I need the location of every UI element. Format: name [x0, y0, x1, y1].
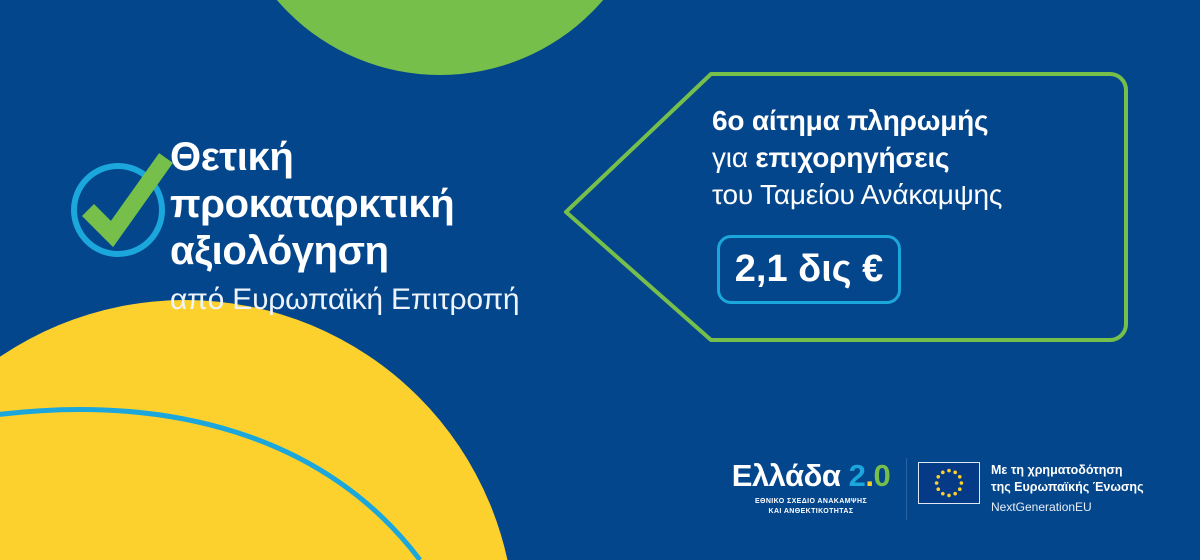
callout-line-2-bold: επιχορηγήσεις: [755, 142, 949, 173]
check-circle-icon: [62, 148, 178, 264]
green-circle-decoration: [225, 0, 655, 75]
headline-line-1: Θετική: [170, 134, 590, 181]
callout-line-1: 6ο αίτημα πληρωμής: [712, 103, 1112, 140]
callout-line-2-prefix: για: [712, 142, 755, 173]
eu-flag-stars: [919, 463, 979, 503]
headline-line-2: προκαταρκτική: [170, 181, 590, 228]
eu-flag-icon: [918, 462, 980, 504]
eu-text-line-2: της Ευρωπαϊκής Ένωσης: [991, 479, 1144, 496]
amount-badge-value: 2,1 δις €: [735, 250, 883, 288]
greece-logo-version-two: 2: [849, 458, 866, 493]
eu-text-line-3: NextGenerationEU: [991, 499, 1144, 515]
greece-2-0-logo: Ελλάδα 2.0 ΕΘΝΙΚΟ ΣΧΕΔΙΟ ΑΝΑΚΑΜΨΗΣ ΚΑΙ Α…: [726, 460, 896, 517]
greece-logo-subtitle-line-2: ΚΑΙ ΑΝΘΕΚΤΙΚΟΤΗΤΑΣ: [726, 507, 896, 517]
amount-badge: 2,1 δις €: [717, 235, 901, 304]
callout-line-3: του Ταμείου Ανάκαμψης: [712, 177, 1112, 214]
logo-divider: [906, 458, 907, 520]
cyan-arc-decoration: [0, 410, 420, 560]
greece-logo-subtitle: ΕΘΝΙΚΟ ΣΧΕΔΙΟ ΑΝΑΚΑΜΨΗΣ ΚΑΙ ΑΝΘΕΚΤΙΚΟΤΗΤ…: [726, 497, 896, 517]
greece-logo-name: Ελλάδα: [732, 458, 841, 493]
eu-funding-text: Με τη χρηματοδότηση της Ευρωπαϊκής Ένωση…: [991, 462, 1144, 515]
status-headline-block: Θετική προκαταρκτική αξιολόγηση από Ευρω…: [170, 134, 590, 318]
recovery-fund-banner: Θετική προκαταρκτική αξιολόγηση από Ευρω…: [0, 0, 1200, 560]
callout-line-2: για επιχορηγήσεις: [712, 140, 1112, 177]
greece-logo-version-zero: 0: [873, 458, 890, 493]
greece-logo-wordmark: Ελλάδα 2.0: [726, 460, 896, 491]
callout-content: 6ο αίτημα πληρωμής για επιχορηγήσεις του…: [712, 103, 1112, 214]
eu-funding-block: Με τη χρηματοδότηση της Ευρωπαϊκής Ένωση…: [918, 462, 1144, 515]
yellow-circle-decoration: [0, 300, 515, 560]
headline-line-3: αξιολόγηση: [170, 228, 590, 275]
greece-logo-subtitle-line-1: ΕΘΝΙΚΟ ΣΧΕΔΙΟ ΑΝΑΚΑΜΨΗΣ: [726, 497, 896, 507]
eu-text-line-1: Με τη χρηματοδότηση: [991, 462, 1144, 479]
callout-right-rounded-edge: [1110, 74, 1126, 340]
subheadline: από Ευρωπαϊκή Επιτροπή: [170, 282, 590, 318]
